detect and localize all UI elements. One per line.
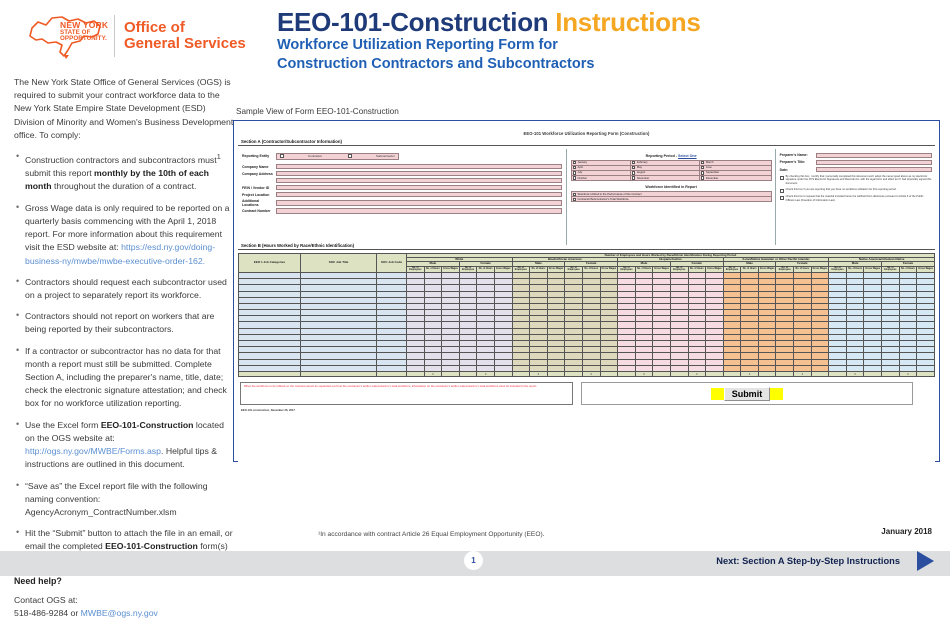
instruction-text: Construction contractors and subcontract… — [25, 155, 217, 165]
form-bottom-area: When the workforce to be utilized on the… — [238, 382, 935, 405]
reporting-entity-row: Reporting Entity Contractor Subcontracto… — [242, 153, 562, 160]
submit-button[interactable]: Submit — [724, 387, 771, 401]
totals-cell: 0 — [424, 371, 442, 377]
workforce-option-row[interactable]: Contractor/Subcontractor's Total Workfor… — [571, 197, 771, 202]
checkbox-icon[interactable] — [701, 176, 704, 179]
entity-option-contractor[interactable]: Contractor — [280, 154, 322, 158]
new-york-state-outline-icon: NEW YORK STATE OF OPPORTUNITY. — [22, 12, 110, 60]
totals-cell — [459, 371, 477, 377]
section-b-header: Section B (Hours Worked by Race/Ethnic I… — [238, 243, 935, 250]
agency-line-1: Office of — [124, 20, 246, 36]
checkbox-icon[interactable] — [701, 171, 704, 174]
instruction-link[interactable]: http://ogs.ny.gov/MWBE/Forms.asp — [25, 446, 161, 456]
instruction-text: Use the Excel form — [25, 420, 101, 430]
totals-label-cell — [377, 371, 407, 377]
section-a-header: Section A (Contractor/Subcontractor Info… — [238, 139, 935, 146]
workforce-identified-options[interactable]: Workforce Utilized in the Performance of… — [571, 191, 772, 202]
totals-cell: 0 — [477, 371, 495, 377]
need-help-heading: Need help? — [14, 575, 234, 589]
months-row: OctoberNovemberDecember — [571, 176, 771, 181]
instruction-bullet: Contractors should not report on workers… — [14, 310, 234, 336]
attestation-text: By checking this box, I certify that I p… — [786, 175, 932, 186]
submit-highlight-left — [711, 388, 724, 400]
contact-line: Contact OGS at: — [14, 594, 234, 607]
preparer-field-row: Preparer's Title: — [780, 160, 932, 166]
month-label: March — [706, 161, 713, 164]
attestation-text: Check this box if you are reporting that… — [786, 188, 897, 192]
table-totals-row: 0000000000 — [239, 371, 935, 377]
section-a-field-row: Company Address — [242, 171, 562, 177]
logo-divider — [114, 15, 115, 57]
page-header: NEW YORK STATE OF OPPORTUNITY. Office of… — [0, 0, 950, 72]
attestation-row[interactable]: Check this box if you are reporting that… — [780, 188, 932, 193]
preparer-field-input[interactable] — [816, 160, 932, 166]
emphasis-text: EEO-101-Construction — [105, 541, 198, 551]
logo-opportunity: OPPORTUNITY. — [60, 36, 108, 42]
preparer-field-label: Preparer's Name: — [780, 153, 816, 157]
totals-cell — [512, 371, 530, 377]
month-option[interactable]: October — [571, 176, 630, 181]
workforce-identified-heading: Workforce Identified in Report — [571, 185, 772, 189]
instruction-text: submit this report — [25, 168, 94, 178]
section-a-field-row: FEIN / Vendor ID — [242, 185, 562, 191]
checkbox-icon[interactable] — [632, 176, 635, 179]
reporting-entity-options[interactable]: Contractor Subcontractor — [276, 153, 399, 160]
ogs-logo: NEW YORK STATE OF OPPORTUNITY. Office of… — [22, 10, 257, 62]
instruction-text: Contractors should request each subcontr… — [25, 277, 227, 300]
section-a-field-row: Contract Number — [242, 208, 562, 214]
sample-view-label: Sample View of Form EEO-101-Construction — [236, 107, 399, 116]
reporting-period-label: Reporting Period - — [646, 154, 678, 158]
totals-cell: 0 — [582, 371, 600, 377]
totals-label-cell — [239, 371, 301, 377]
checkbox-icon[interactable] — [780, 189, 784, 193]
entity-option-subcontractor-label: Subcontractor — [376, 154, 395, 158]
footnote: ¹In accordance with contract Article 26 … — [318, 531, 545, 538]
attestation-text: Check this box to request that the mater… — [786, 195, 932, 202]
instruction-text: throughout the duration of a contract. — [52, 181, 197, 191]
section-a-field-row: Company Name — [242, 164, 562, 170]
field-input[interactable] — [276, 178, 562, 184]
checkbox-icon[interactable] — [632, 161, 635, 164]
form-title: EEO-101 Workforce Utilization Reporting … — [238, 131, 935, 136]
instruction-text: Contractors should not report on workers… — [25, 311, 214, 334]
preparer-field-row: Preparer's Name: — [780, 153, 932, 159]
section-a-field-row: Project Location — [242, 192, 562, 198]
checkbox-icon[interactable] — [632, 166, 635, 169]
instructions-bullet-list: Construction contractors and subcontract… — [14, 151, 234, 567]
preparer-field-input[interactable] — [816, 167, 932, 173]
page-subtitle-line-1: Workforce Utilization Reporting Form for — [277, 36, 701, 55]
totals-cell — [882, 371, 900, 377]
submit-highlight-right — [770, 388, 783, 400]
month-label: December — [706, 177, 718, 180]
totals-cell — [547, 371, 565, 377]
workforce-option[interactable]: Contractor/Subcontractor's Total Workfor… — [571, 197, 771, 202]
checkbox-icon[interactable] — [701, 166, 704, 169]
totals-cell — [829, 371, 847, 377]
instruction-text: “Save as” the Excel report file with the… — [25, 481, 208, 517]
field-label: Contract Number — [242, 209, 276, 213]
submit-area: Submit — [581, 382, 914, 405]
checkbox-icon[interactable] — [573, 198, 576, 201]
field-input[interactable] — [276, 164, 562, 170]
month-label: November — [637, 177, 649, 180]
instruction-text: If a contractor or subcontractor has no … — [25, 346, 227, 409]
reporting-period-heading: Reporting Period - Select One — [571, 154, 772, 158]
field-label: Additional Locations — [242, 199, 276, 207]
workforce-option-label: Contractor/Subcontractor's Total Workfor… — [577, 198, 628, 201]
month-label: July — [577, 171, 582, 174]
footnote-marker: 1 — [217, 152, 221, 161]
totals-cell — [565, 371, 583, 377]
next-arrow-icon[interactable] — [917, 551, 934, 571]
section-a-reporting-period: Reporting Period - Select One JanuaryFeb… — [566, 149, 775, 245]
checkbox-icon[interactable] — [573, 161, 576, 164]
checkbox-icon[interactable] — [280, 154, 284, 158]
instruction-bullet: Contractors should request each subcontr… — [14, 276, 234, 302]
column-header-eeo1-job-categories: EEO 1 Job Categories — [239, 253, 301, 272]
totals-cell: 0 — [635, 371, 653, 377]
totals-cell: 0 — [899, 371, 917, 377]
totals-label-cell — [301, 371, 377, 377]
field-input[interactable] — [276, 192, 562, 198]
section-a-field-rows: Company NameCompany AddressFEIN / Vendor… — [242, 164, 562, 214]
checkbox-icon[interactable] — [573, 176, 576, 179]
totals-cell — [864, 371, 882, 377]
section-a-field-row: Additional Locations — [242, 199, 562, 207]
preparer-fields: Preparer's Name:Preparer's Title:Date: — [780, 153, 932, 173]
instructions-intro: The New York State Office of General Ser… — [14, 76, 234, 142]
totals-cell: 0 — [688, 371, 706, 377]
checkbox-icon[interactable] — [573, 171, 576, 174]
totals-cell — [407, 371, 425, 377]
totals-cell — [494, 371, 512, 377]
totals-cell — [618, 371, 636, 377]
month-label: May — [637, 166, 642, 169]
section-a-preparer: Preparer's Name:Preparer's Title:Date: B… — [775, 149, 935, 245]
totals-cell — [776, 371, 794, 377]
totals-cell: 0 — [846, 371, 864, 377]
totals-cell: 0 — [741, 371, 759, 377]
month-label: February — [637, 161, 648, 164]
page-title: EEO-101-Construction Instructions — [277, 8, 701, 36]
page-number: 1 — [464, 551, 483, 570]
emphasis-text: EEO-101-Construction — [101, 420, 194, 430]
logo-wordmark: NEW YORK STATE OF OPPORTUNITY. — [60, 21, 108, 42]
month-label: August — [637, 171, 645, 174]
instruction-bullet: Construction contractors and subcontract… — [14, 151, 234, 194]
field-label: FEIN / Vendor ID — [242, 186, 276, 190]
totals-cell — [653, 371, 671, 377]
instruction-bullet: If a contractor or subcontractor has no … — [14, 345, 234, 411]
entity-option-contractor-label: Contractor — [308, 154, 322, 158]
checkbox-icon[interactable] — [780, 176, 784, 180]
month-label: June — [706, 166, 712, 169]
contact-phone: 518-486-9284 or — [14, 608, 81, 618]
agency-line-2: General Services — [124, 36, 246, 52]
totals-cell — [706, 371, 724, 377]
instruction-bullet: Gross Wage data is only required to be r… — [14, 202, 234, 268]
contact-email-link[interactable]: MWBE@ogs.ny.gov — [81, 608, 158, 618]
month-label: October — [577, 177, 587, 180]
section-a-left-fields: Reporting Entity Contractor Subcontracto… — [238, 149, 566, 245]
attestation-row[interactable]: Check this box to request that the mater… — [780, 195, 932, 202]
form-document-id: EEO-101-construction_December 26, 2017 — [241, 409, 935, 412]
next-section-link[interactable]: Next: Section A Step-by-Step Instruction… — [716, 556, 900, 566]
reporting-entity-label: Reporting Entity — [242, 154, 276, 158]
entity-option-subcontractor[interactable]: Subcontractor — [348, 154, 395, 158]
agency-name: Office of General Services — [124, 20, 246, 52]
attestation-checkboxes: By checking this box, I certify that I p… — [780, 175, 932, 203]
page-subtitle-line-2: Construction Contractors and Subcontract… — [277, 55, 701, 74]
checkbox-icon[interactable] — [632, 171, 635, 174]
title-block: EEO-101-Construction Instructions Workfo… — [277, 8, 701, 74]
page-title-accent: Instructions — [555, 7, 700, 37]
preparer-field-label: Date: — [780, 168, 816, 172]
contact-info: Contact OGS at: 518-486-9284 or MWBE@ogs… — [14, 594, 234, 620]
checkbox-icon[interactable] — [348, 154, 352, 158]
totals-cell — [723, 371, 741, 377]
column-header-soc-job-title: SOC Job Title — [301, 253, 377, 272]
instructions-column: The New York State Office of General Ser… — [14, 76, 234, 621]
field-input[interactable] — [276, 185, 562, 191]
totals-cell — [670, 371, 688, 377]
issue-date: January 2018 — [881, 527, 932, 536]
month-label: April — [577, 166, 582, 169]
workforce-data-table[interactable]: EEO 1 Job Categories SOC Job Title SOC J… — [238, 253, 935, 378]
attestation-row[interactable]: By checking this box, I certify that I p… — [780, 175, 932, 186]
workforce-option-label: Workforce Utilized in the Performance of… — [577, 193, 641, 196]
field-label: Company Name — [242, 165, 276, 169]
month-label: January — [577, 161, 587, 164]
month-option[interactable]: December — [700, 176, 772, 181]
totals-cell — [600, 371, 618, 377]
months-grid[interactable]: JanuaryFebruaryMarchAprilMayJuneJulyAugu… — [571, 160, 772, 182]
field-input[interactable] — [276, 200, 562, 206]
column-header-soc-job-code: SOC Job Code — [377, 253, 407, 272]
checkbox-icon[interactable] — [780, 196, 784, 200]
totals-cell: 0 — [794, 371, 812, 377]
instruction-bullet: “Save as” the Excel report file with the… — [14, 480, 234, 520]
section-a-field-row — [242, 178, 562, 184]
sample-form-preview: EEO-101 Workforce Utilization Reporting … — [233, 120, 940, 462]
totals-cell — [811, 371, 829, 377]
totals-cell — [917, 371, 935, 377]
red-note-box: When the workforce to be utilized on the… — [240, 382, 573, 405]
section-b: Section B (Hours Worked by Race/Ethnic I… — [238, 243, 935, 377]
preparer-field-label: Preparer's Title: — [780, 160, 816, 164]
totals-cell — [758, 371, 776, 377]
month-label: September — [706, 171, 719, 174]
red-note-text: When the workforce to be utilized on the… — [244, 385, 569, 389]
checkbox-icon[interactable] — [573, 166, 576, 169]
checkbox-icon[interactable] — [701, 161, 704, 164]
field-input[interactable] — [276, 208, 562, 214]
instruction-bullet: Use the Excel form EEO-101-Construction … — [14, 419, 234, 472]
page-title-primary: EEO-101-Construction — [277, 7, 555, 37]
month-option[interactable]: November — [630, 176, 699, 181]
reporting-period-select-link[interactable]: Select One — [678, 154, 697, 158]
preparer-field-input[interactable] — [816, 153, 932, 159]
preparer-field-row: Date: — [780, 167, 932, 173]
field-label: Project Location — [242, 193, 276, 197]
contact-phone-line: 518-486-9284 or MWBE@ogs.ny.gov — [14, 607, 234, 620]
section-a: Section A (Contractor/Subcontractor Info… — [238, 139, 935, 243]
field-input[interactable] — [276, 171, 562, 177]
totals-cell: 0 — [530, 371, 548, 377]
checkbox-icon[interactable] — [573, 193, 576, 196]
field-label: Company Address — [242, 172, 276, 176]
totals-cell — [442, 371, 460, 377]
